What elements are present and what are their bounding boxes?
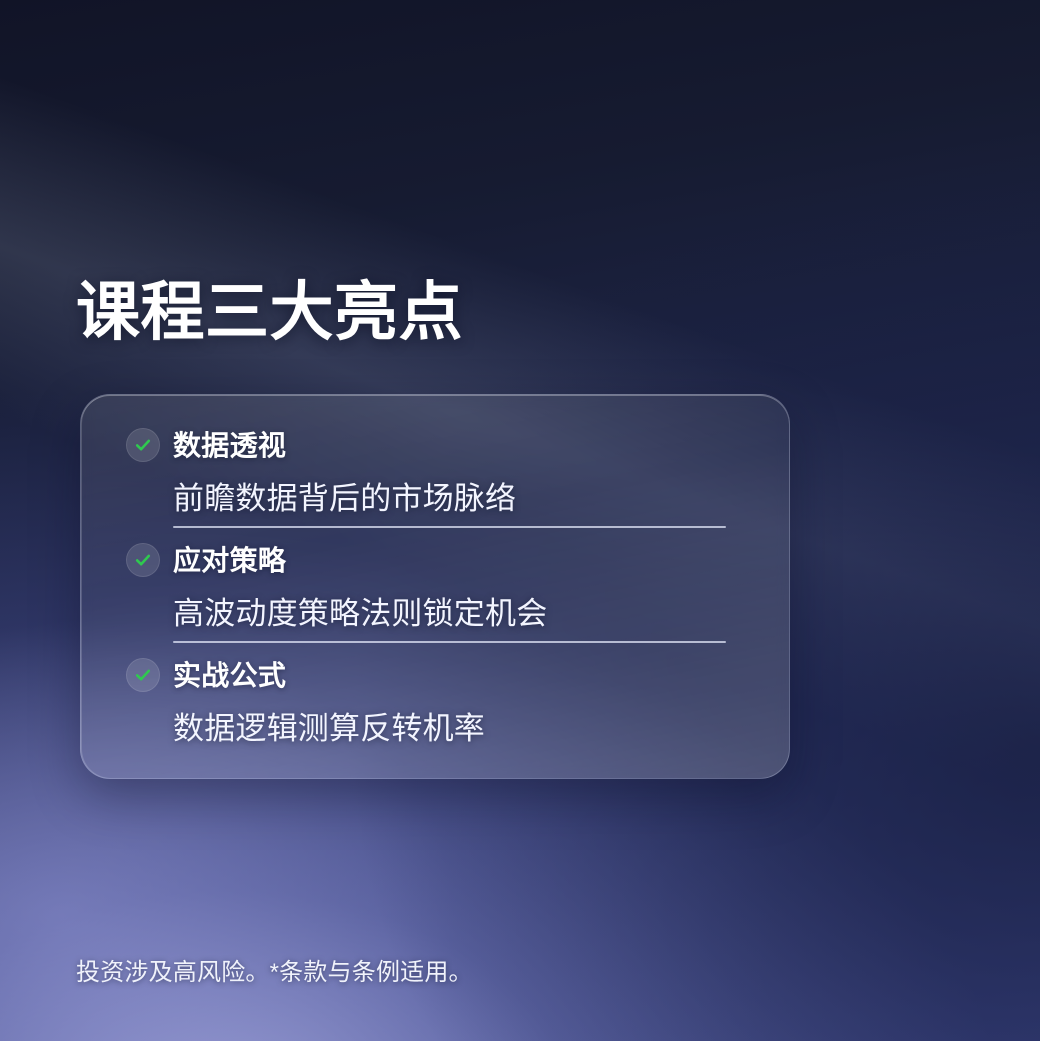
- list-item[interactable]: 数据透视 前瞻数据背后的市场脉络: [81, 423, 789, 518]
- feature-title: 应对策略: [173, 539, 286, 579]
- divider: [173, 526, 726, 528]
- list-item[interactable]: 实战公式 数据逻辑测算反转机率: [81, 653, 789, 748]
- feature-header: 数据透视: [81, 423, 789, 465]
- feature-header: 应对策略: [81, 538, 789, 580]
- check-icon: [126, 543, 160, 577]
- page-title: 课程三大亮点: [76, 279, 463, 346]
- feature-list: 数据透视 前瞻数据背后的市场脉络 应对策略 高波动度策略法则锁定: [81, 395, 789, 778]
- feature-title: 数据透视: [173, 424, 286, 464]
- highlights-card: 数据透视 前瞻数据背后的市场脉络 应对策略 高波动度策略法则锁定: [80, 394, 790, 779]
- disclaimer-text: 投资涉及高风险。*条款与条例适用。: [76, 952, 473, 987]
- list-item[interactable]: 应对策略 高波动度策略法则锁定机会: [81, 538, 789, 633]
- check-icon: [126, 428, 160, 462]
- poster-canvas: 课程三大亮点 数据透视 前瞻数据背后的市场脉络: [0, 0, 1040, 1041]
- feature-header: 实战公式: [81, 653, 789, 695]
- feature-description: 前瞻数据背后的市场脉络: [81, 473, 789, 518]
- feature-description: 数据逻辑测算反转机率: [81, 703, 789, 748]
- feature-description: 高波动度策略法则锁定机会: [81, 588, 789, 633]
- divider: [173, 641, 726, 643]
- poster-content: 课程三大亮点 数据透视 前瞻数据背后的市场脉络: [0, 0, 1040, 1041]
- check-icon: [126, 658, 160, 692]
- feature-title: 实战公式: [173, 654, 286, 694]
